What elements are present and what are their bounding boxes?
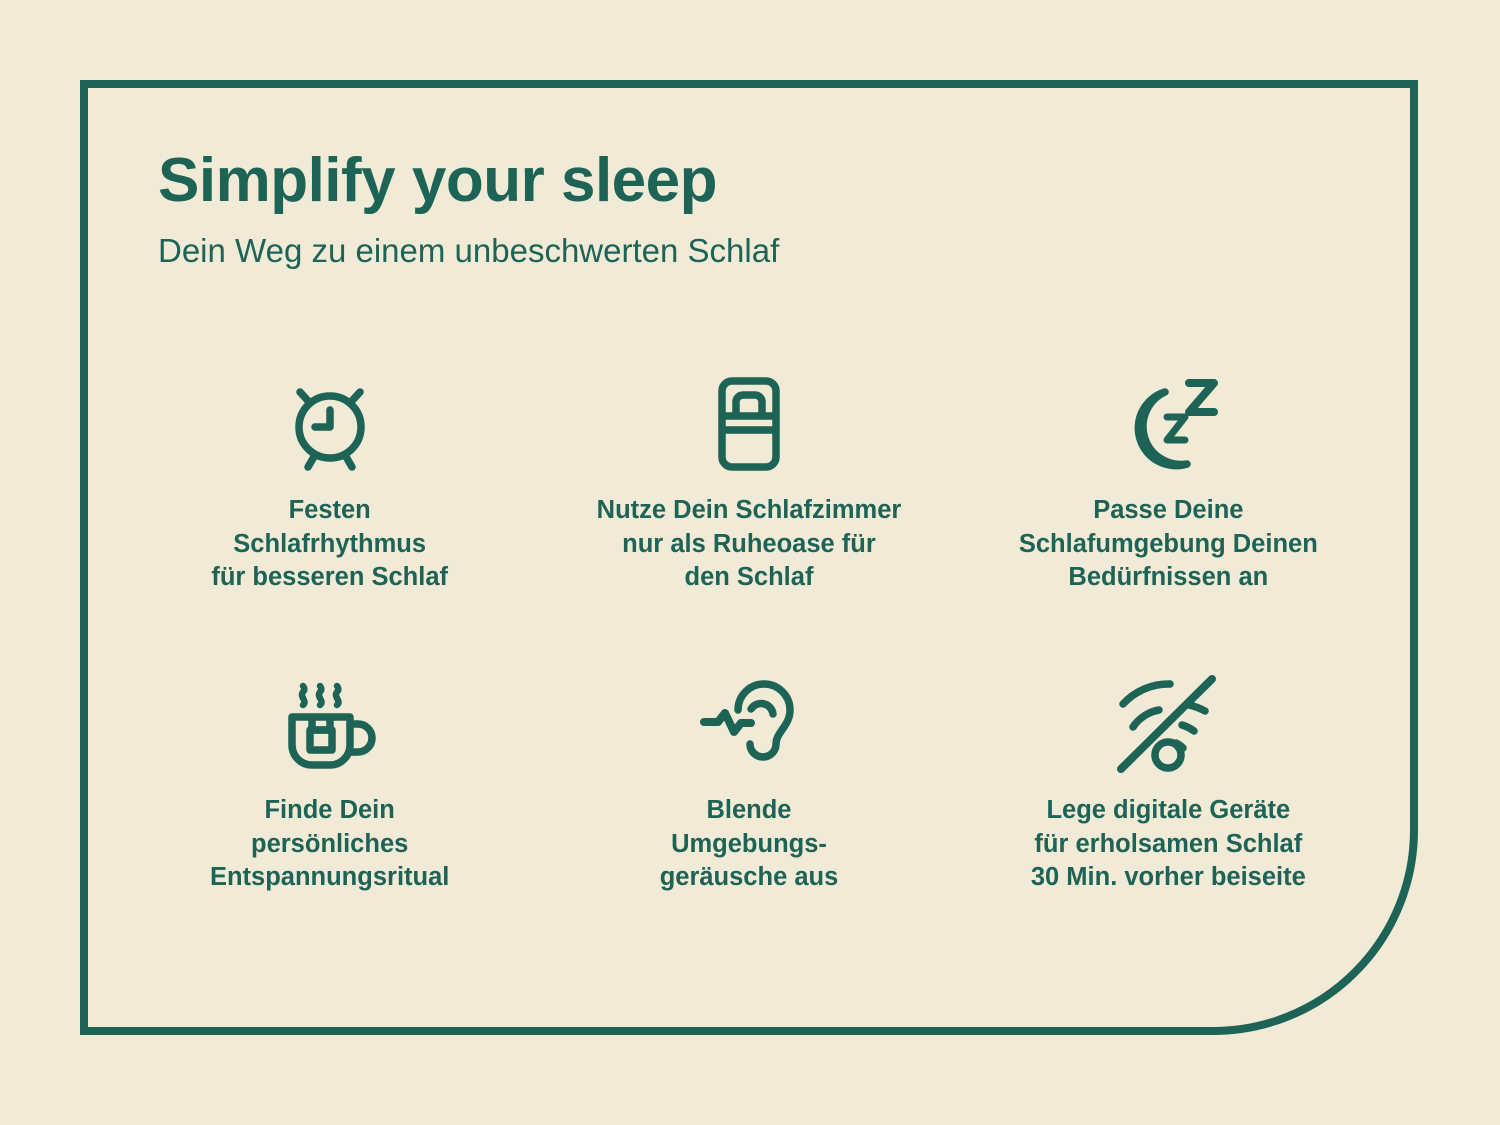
page-title: Simplify your sleep	[158, 148, 1058, 213]
tip-caption: Finde Dein persönliches Entspannungsritu…	[210, 794, 449, 895]
alarm-clock-icon	[278, 370, 382, 478]
tip-caption: Festen Schlafrhythmus für besseren Schla…	[211, 494, 448, 595]
tip-card-digital-devices-away: Lege digitale Geräte für erholsamen Schl…	[959, 670, 1378, 970]
bed-icon	[697, 370, 801, 478]
tip-caption: Nutze Dein Schlafzimmer nur als Ruheoase…	[597, 494, 902, 595]
tip-card-sleep-rhythm: Festen Schlafrhythmus für besseren Schla…	[120, 370, 539, 670]
ear-noise-icon	[696, 670, 802, 778]
page-subtitle: Dein Weg zu einem unbeschwerten Schlaf	[158, 231, 1058, 271]
tip-caption: Blende Umgebungs- geräusche aus	[660, 794, 839, 895]
tea-cup-icon	[278, 670, 382, 778]
tip-caption: Passe Deine Schlafumgebung Deinen Bedürf…	[1019, 494, 1318, 595]
moon-zzz-icon	[1113, 370, 1223, 478]
tips-grid: Festen Schlafrhythmus für besseren Schla…	[120, 370, 1378, 970]
wifi-off-icon	[1115, 670, 1221, 778]
tip-card-bedroom-rest-oasis: Nutze Dein Schlafzimmer nur als Ruheoase…	[539, 370, 958, 670]
tip-caption: Lege digitale Geräte für erholsamen Schl…	[1031, 794, 1306, 895]
headings-block: Simplify your sleep Dein Weg zu einem un…	[158, 148, 1058, 271]
tip-card-block-noise: Blende Umgebungs- geräusche aus	[539, 670, 958, 970]
poster: Simplify your sleep Dein Weg zu einem un…	[0, 0, 1500, 1125]
tip-card-sleep-environment: Passe Deine Schlafumgebung Deinen Bedürf…	[959, 370, 1378, 670]
tip-card-relaxation-ritual: Finde Dein persönliches Entspannungsritu…	[120, 670, 539, 970]
poster-content: Simplify your sleep Dein Weg zu einem un…	[80, 80, 1418, 1035]
